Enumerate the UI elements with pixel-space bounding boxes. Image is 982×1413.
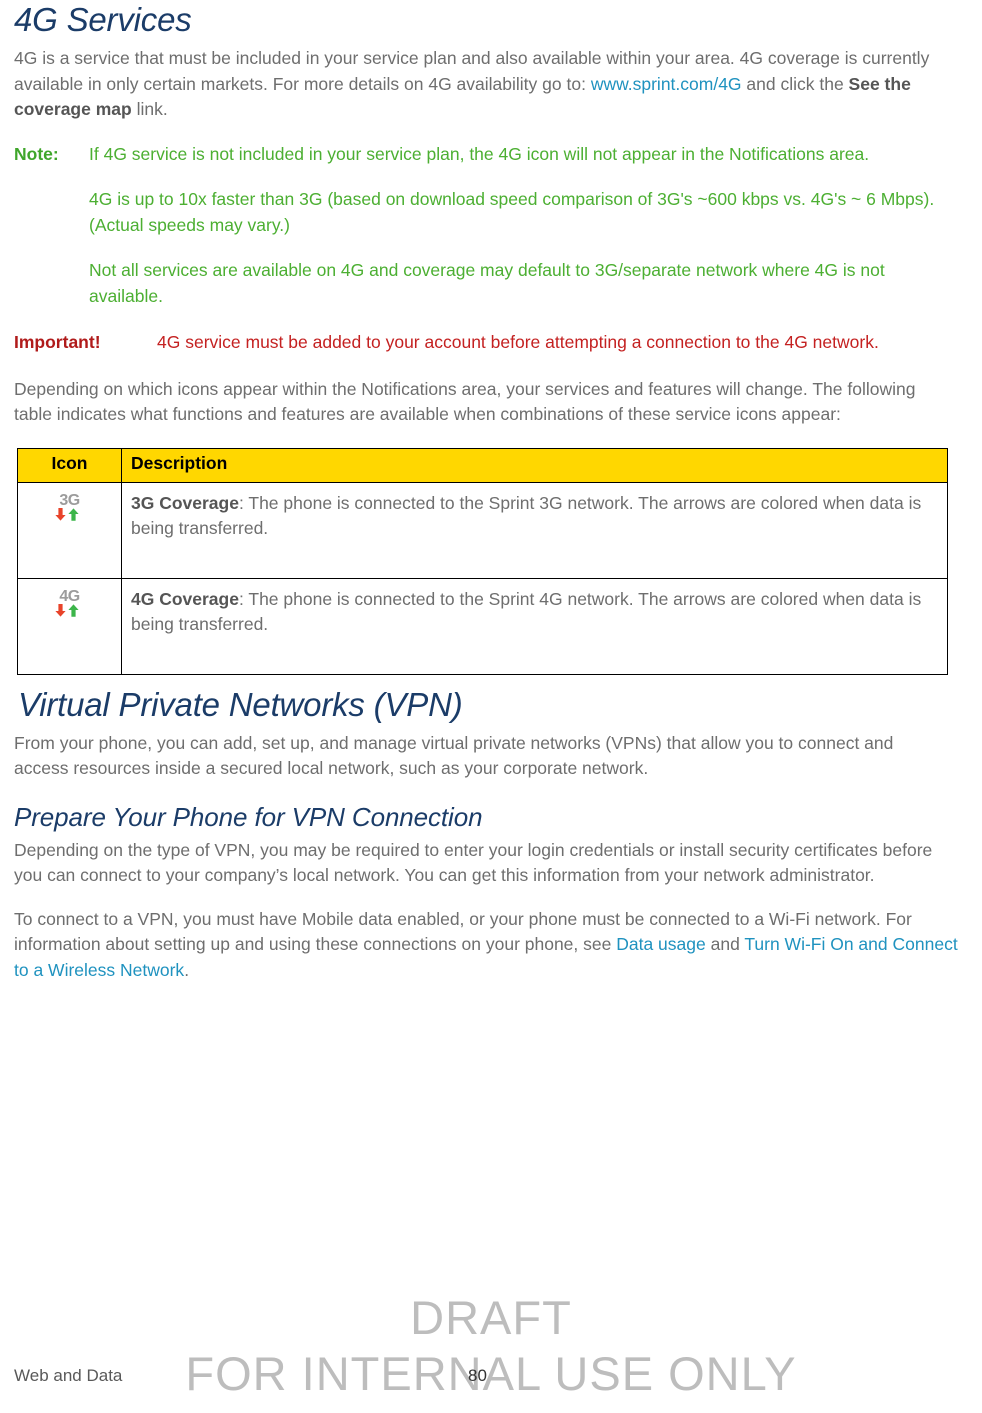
- note-paragraph: 4G is up to 10x faster than 3G (based on…: [89, 186, 949, 238]
- important-body: 4G service must be added to your account…: [157, 329, 968, 355]
- table-cell-icon: 4G: [18, 578, 122, 674]
- watermark-line-1: DRAFT: [410, 1291, 572, 1344]
- 4g-icon-label: 4G: [49, 589, 91, 605]
- subsection-title-prepare-phone: Prepare Your Phone for VPN Connection: [14, 800, 968, 834]
- table-header-row: Icon Description: [18, 448, 948, 482]
- intro-text-part2: and click the: [742, 74, 849, 94]
- vpn-intro-paragraph: From your phone, you can add, set up, an…: [14, 731, 944, 782]
- table-cell-description: 4G Coverage: The phone is connected to t…: [122, 578, 948, 674]
- table-cell-icon: 3G: [18, 482, 122, 578]
- data-transfer-arrows: [49, 604, 91, 617]
- row-term: 3G Coverage: [131, 493, 239, 513]
- sprint-4g-link[interactable]: www.sprint.com/4G: [591, 74, 742, 94]
- note-body: If 4G service is not included in your se…: [89, 141, 968, 309]
- watermark-line-2: FOR INTERNAL USE ONLY: [0, 1346, 982, 1402]
- 3g-icon-label: 3G: [49, 493, 91, 509]
- data-transfer-arrows: [49, 508, 91, 521]
- row-description: : The phone is connected to the Sprint 3…: [131, 493, 921, 539]
- section-title-vpn: Virtual Private Networks (VPN): [14, 685, 968, 725]
- note-paragraph: If 4G service is not included in your se…: [89, 141, 949, 167]
- important-paragraph: 4G service must be added to your account…: [157, 329, 969, 355]
- vpn-p2-part2: and: [706, 934, 745, 954]
- intro-paragraph: 4G is a service that must be included in…: [14, 46, 966, 123]
- note-callout: Note: If 4G service is not included in y…: [14, 141, 968, 309]
- footer-page-number: 80: [468, 1366, 487, 1386]
- vpn-p2-part3: .: [184, 960, 189, 980]
- table-header-icon: Icon: [18, 448, 122, 482]
- document-page: 4G Services 4G is a service that must be…: [0, 0, 982, 1413]
- row-description: : The phone is connected to the Sprint 4…: [131, 589, 921, 635]
- note-label: Note:: [14, 141, 59, 167]
- 3g-coverage-icon: 3G: [49, 493, 91, 521]
- intro-text-part3: link.: [132, 99, 168, 119]
- important-callout: Important! 4G service must be added to y…: [14, 329, 968, 355]
- note-paragraph: Not all services are available on 4G and…: [89, 257, 949, 309]
- page-title: 4G Services: [14, 0, 968, 40]
- table-intro-paragraph: Depending on which icons appear within t…: [14, 377, 944, 428]
- footer-section-label: Web and Data: [14, 1366, 122, 1386]
- row-term: 4G Coverage: [131, 589, 239, 609]
- table-cell-description: 3G Coverage: The phone is connected to t…: [122, 482, 948, 578]
- 4g-coverage-icon: 4G: [49, 589, 91, 617]
- service-icons-table: Icon Description 3G: [17, 448, 948, 675]
- vpn-prepare-paragraph-1: Depending on the type of VPN, you may be…: [14, 838, 944, 889]
- data-usage-link[interactable]: Data usage: [616, 934, 706, 954]
- table-row: 3G 3G Coverage: The phone is c: [18, 482, 948, 578]
- page-content: 4G Services 4G is a service that must be…: [14, 0, 968, 1001]
- draft-watermark: DRAFT FOR INTERNAL USE ONLY: [0, 1290, 982, 1402]
- important-label: Important!: [14, 329, 101, 355]
- table-row: 4G 4G Coverage: The phone is c: [18, 578, 948, 674]
- table-header-description: Description: [122, 448, 948, 482]
- vpn-prepare-paragraph-2: To connect to a VPN, you must have Mobil…: [14, 907, 966, 984]
